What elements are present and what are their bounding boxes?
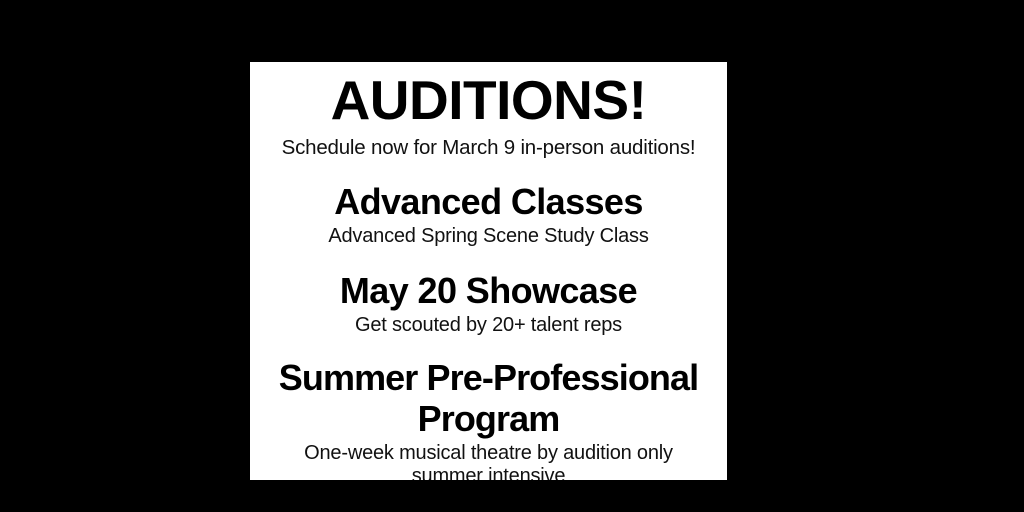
section-title-advanced-classes: Advanced Classes (258, 181, 719, 222)
section-subtitle-summer-program: One-week musical theatre by audition onl… (258, 442, 719, 480)
poster-canvas: AUDITIONS! Schedule now for March 9 in-p… (0, 0, 1024, 512)
section-may-showcase: May 20 Showcase Get scouted by 20+ talen… (258, 270, 719, 338)
flyer-tagline: Schedule now for March 9 in-person audit… (258, 136, 719, 161)
section-title-summer-program: Summer Pre-Professional Program (258, 357, 719, 439)
section-subtitle-may-showcase: Get scouted by 20+ talent reps (258, 314, 719, 338)
section-advanced-classes: Advanced Classes Advanced Spring Scene S… (258, 181, 719, 249)
section-summer-program: Summer Pre-Professional Program One-week… (258, 357, 719, 480)
section-title-may-showcase: May 20 Showcase (258, 270, 719, 311)
flyer-headline: AUDITIONS! (258, 72, 719, 130)
section-subtitle-line: summer intensive (258, 465, 719, 480)
section-subtitle-line: Get scouted by 20+ talent reps (258, 314, 719, 338)
section-subtitle-advanced-classes: Advanced Spring Scene Study Class (258, 225, 719, 249)
section-subtitle-line: One-week musical theatre by audition onl… (258, 442, 719, 466)
section-subtitle-line: Advanced Spring Scene Study Class (258, 225, 719, 249)
flyer-card: AUDITIONS! Schedule now for March 9 in-p… (250, 62, 727, 480)
